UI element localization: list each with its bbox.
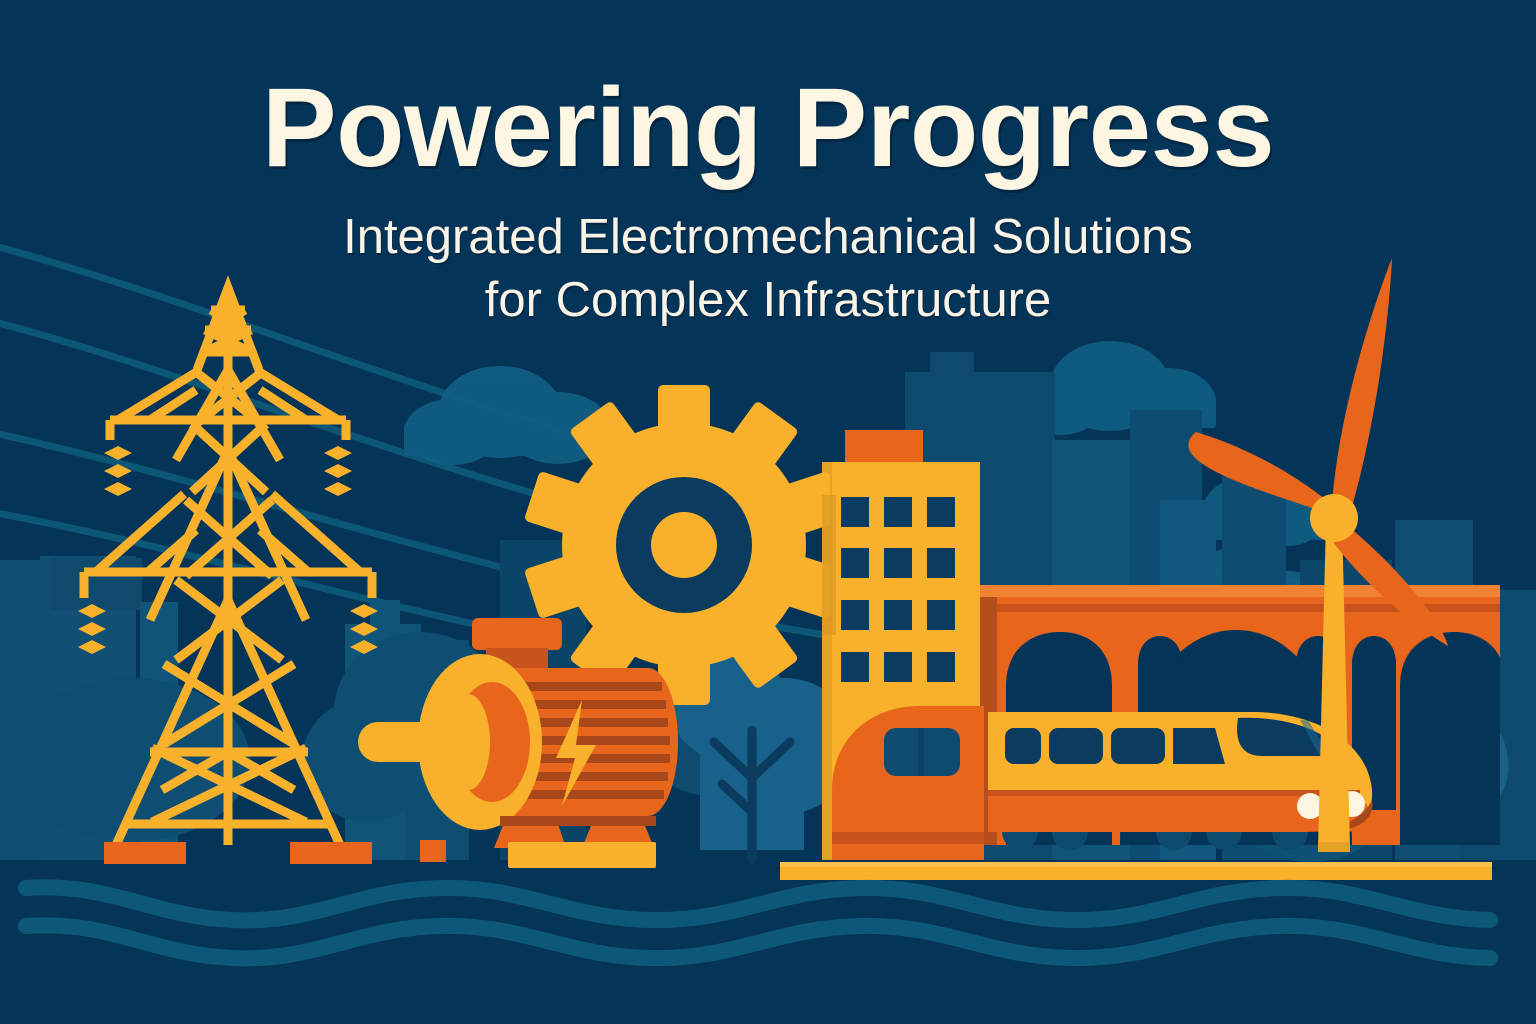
building-roof-box	[845, 430, 923, 466]
insulator-lower-left	[78, 604, 106, 654]
insulator-upper-left	[104, 446, 132, 496]
gear	[524, 385, 844, 705]
poster-canvas: Powering Progress Integrated Electromech…	[0, 0, 1536, 1024]
gear-hub	[651, 512, 717, 578]
illustration-svg	[0, 0, 1536, 1024]
turbine-hub	[1310, 494, 1358, 542]
motor-marker-block	[420, 840, 446, 862]
tower-base-pad-right	[290, 842, 372, 864]
train-windows	[1005, 728, 1225, 764]
gear-shadow-on-building	[822, 495, 836, 635]
motor-terminal-box	[472, 618, 562, 650]
insulator-upper-right	[324, 446, 352, 496]
insulator-lower-right	[350, 604, 378, 654]
motor-shaft	[358, 722, 478, 762]
high-speed-train	[988, 712, 1373, 850]
tower-base-pad-left	[104, 842, 186, 864]
motor-base-plinth	[508, 842, 656, 868]
bridge-arch-right	[1400, 632, 1506, 845]
